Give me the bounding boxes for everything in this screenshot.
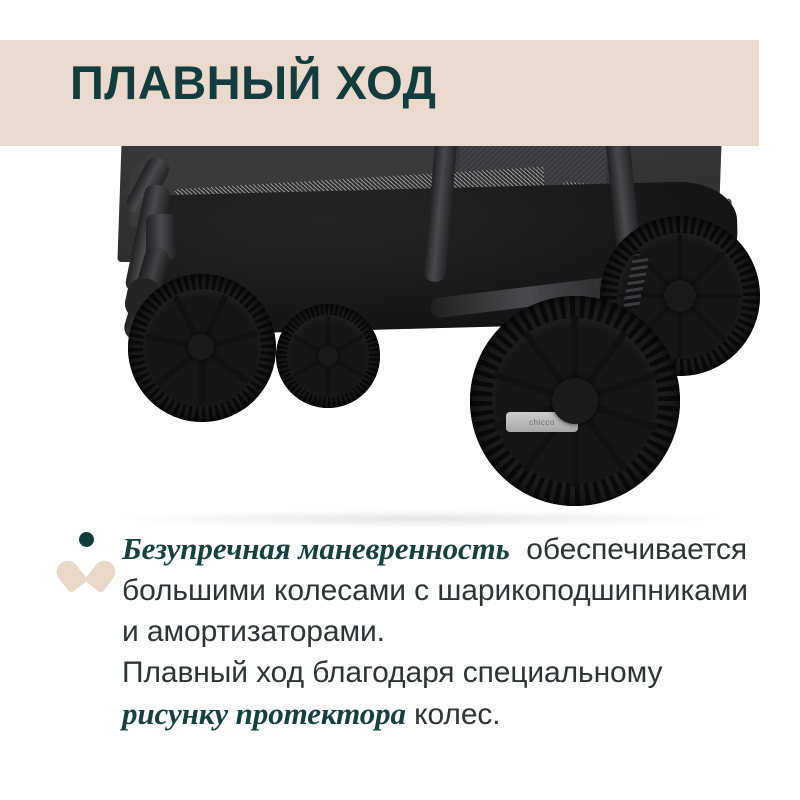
feature-emphasis-tread: рисунку протектора bbox=[122, 696, 406, 731]
wheel-hub bbox=[664, 280, 696, 312]
secondary-wheel bbox=[276, 304, 380, 408]
feature-body-line-6-rest: колес. bbox=[406, 698, 501, 731]
feature-description: Безупречная маневренность обеспечивается… bbox=[122, 528, 752, 735]
product-photo: chicco bbox=[0, 118, 800, 530]
bullet-heart-shape-icon bbox=[66, 550, 106, 588]
wheel-hub bbox=[318, 346, 338, 366]
feature-emphasis-lead: Безупречная маневренность bbox=[122, 531, 510, 566]
feature-body-line-5: Плавный ход благодаря специальному bbox=[122, 656, 662, 689]
heart-bullet-icon bbox=[62, 532, 110, 588]
bullet-dot-icon bbox=[79, 532, 94, 547]
page-title: ПЛАВНЫЙ ХОД bbox=[70, 59, 437, 106]
wheel-hub bbox=[188, 334, 214, 360]
front-caster-wheel bbox=[128, 274, 276, 422]
product-feature-slide: chicco bbox=[0, 0, 800, 800]
feature-block: Безупречная маневренность обеспечивается… bbox=[62, 528, 752, 735]
feature-body-line-4: амортизаторами. bbox=[147, 615, 385, 648]
main-rear-wheel: chicco bbox=[470, 296, 680, 506]
stroller-wheels-photo: chicco bbox=[0, 118, 800, 530]
ground-shadow bbox=[120, 510, 720, 528]
wheel-hub bbox=[552, 378, 598, 424]
